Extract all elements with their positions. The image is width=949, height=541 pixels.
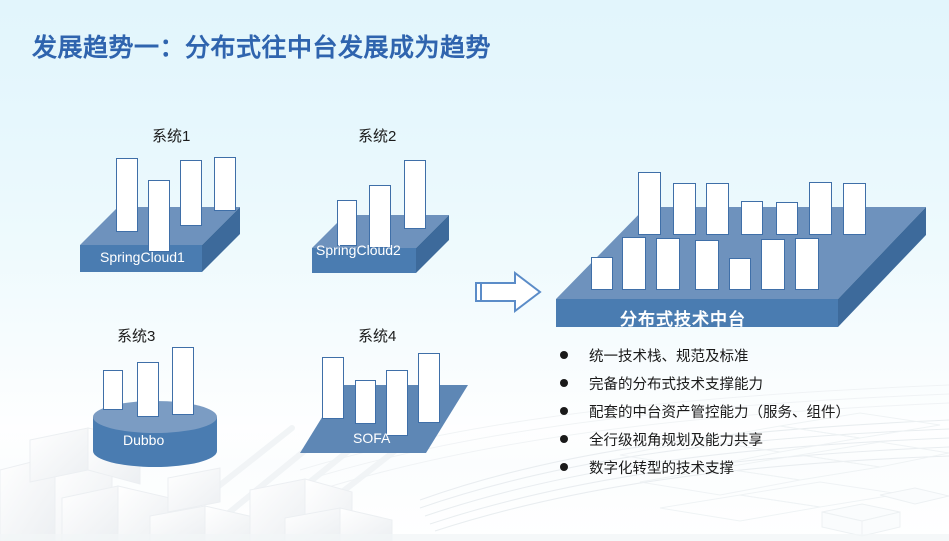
system-4-bar-2 <box>355 380 376 424</box>
system-4-bar-3 <box>386 370 408 436</box>
central-front-bar-1 <box>591 257 613 290</box>
system-group-1: 系统1 SpringCloud1 <box>80 125 280 275</box>
central-front-bar-3 <box>656 238 680 290</box>
list-item: 数字化转型的技术支撑 <box>560 457 949 485</box>
benefit-text: 完备的分布式技术支撑能力 <box>589 373 763 394</box>
system-1-label: 系统1 <box>152 125 190 146</box>
bullet-dot-icon <box>560 407 568 415</box>
benefit-text: 配套的中台资产管控能力（服务、组件） <box>589 401 850 422</box>
page-title: 发展趋势一：分布式往中台发展成为趋势 <box>32 28 491 64</box>
bullet-dot-icon <box>560 463 568 471</box>
central-platform-name: 分布式技术中台 <box>620 305 746 330</box>
bullet-dot-icon <box>560 379 568 387</box>
central-back-bar-1 <box>638 172 661 235</box>
bullet-dot-icon <box>560 351 568 359</box>
flow-arrow-icon <box>474 271 542 318</box>
bullet-dot-icon <box>560 435 568 443</box>
system-2-bar-3 <box>404 160 426 229</box>
list-item: 全行级视角规划及能力共享 <box>560 429 949 457</box>
system-2-platform-name: SpringCloud2 <box>316 242 401 258</box>
benefit-text: 统一技术栈、规范及标准 <box>589 345 749 366</box>
system-1-platform-name: SpringCloud1 <box>100 249 185 265</box>
central-back-bar-4 <box>741 201 763 235</box>
system-1-bar-4 <box>214 157 236 211</box>
system-4-platform-name: SOFA <box>353 430 390 446</box>
list-item: 配套的中台资产管控能力（服务、组件） <box>560 401 949 429</box>
system-3-bar-2 <box>137 362 159 417</box>
central-back-bar-3 <box>706 183 729 235</box>
system-2-bar-1 <box>337 200 357 246</box>
central-back-bar-7 <box>843 183 866 235</box>
system-1-bar-2 <box>148 180 170 252</box>
list-item: 统一技术栈、规范及标准 <box>560 345 949 373</box>
central-front-bar-5 <box>729 258 751 290</box>
system-2-label: 系统2 <box>358 125 396 146</box>
system-4-bar-1 <box>322 357 344 419</box>
system-group-4: 系统4 SOFA <box>300 325 480 465</box>
system-2-bar-2 <box>369 185 391 248</box>
central-front-bar-4 <box>695 240 719 290</box>
benefit-text: 数字化转型的技术支撑 <box>589 457 734 478</box>
system-3-platform-name: Dubbo <box>123 432 164 448</box>
system-3-bar-3 <box>172 347 194 415</box>
central-platform-group <box>556 165 936 340</box>
system-4-bar-4 <box>418 353 440 423</box>
benefits-list: 统一技术栈、规范及标准 完备的分布式技术支撑能力 配套的中台资产管控能力（服务、… <box>560 345 949 485</box>
central-back-bar-6 <box>809 182 832 235</box>
central-front-bar-6 <box>761 239 785 290</box>
system-3-label: 系统3 <box>117 325 155 346</box>
system-3-bar-1 <box>103 370 123 410</box>
system-1-bar-1 <box>116 158 138 232</box>
system-group-2: 系统2 SpringCloud2 <box>312 125 492 275</box>
benefit-text: 全行级视角规划及能力共享 <box>589 429 763 450</box>
system-1-bar-3 <box>180 160 202 226</box>
central-back-bar-5 <box>776 202 798 235</box>
system-group-3: 系统3 Dubbo <box>90 325 270 465</box>
central-front-bar-2 <box>622 237 646 290</box>
system-4-label: 系统4 <box>358 325 396 346</box>
central-front-bar-7 <box>795 238 819 290</box>
central-back-bar-2 <box>673 183 696 235</box>
list-item: 完备的分布式技术支撑能力 <box>560 373 949 401</box>
